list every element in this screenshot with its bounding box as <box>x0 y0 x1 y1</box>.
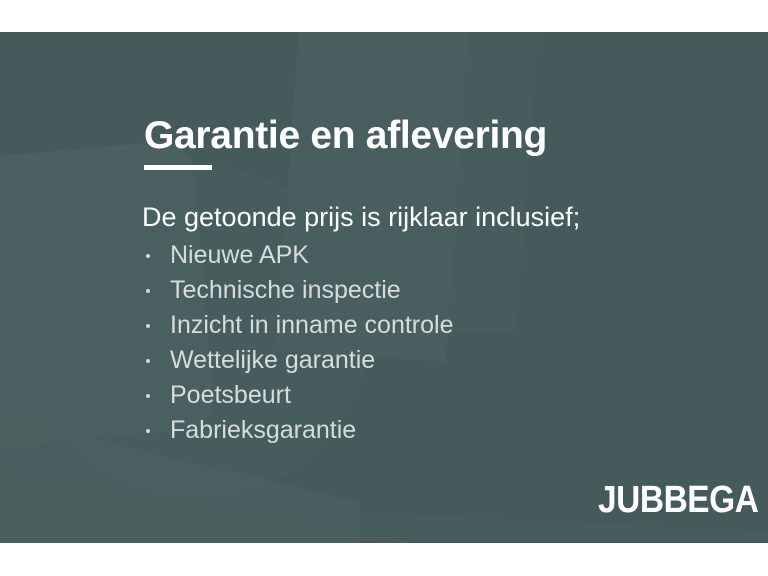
list-item: Technische inspectie <box>142 273 662 308</box>
bullet-dot-icon <box>146 359 150 363</box>
list-item: Wettelijke garantie <box>142 343 662 378</box>
bullet-dot-icon <box>146 394 150 398</box>
bullet-dot-icon <box>146 324 150 328</box>
bullet-dot-icon <box>146 289 150 293</box>
intro-text: De getoonde prijs is rijklaar inclusief; <box>142 200 580 234</box>
slide-body: Garantie en aflevering De getoonde prijs… <box>0 32 768 543</box>
bullet-dot-icon <box>146 429 150 433</box>
brand-logo: JUBBEGA SINDS 1924 <box>598 477 768 519</box>
slide-canvas: Garantie en aflevering De getoonde prijs… <box>0 0 768 576</box>
list-item-label: Wettelijke garantie <box>170 346 375 374</box>
list-item: Inzicht in inname controle <box>142 308 662 343</box>
list-item: Nieuwe APK <box>142 238 662 273</box>
list-item-label: Fabrieksgarantie <box>170 416 356 444</box>
slide-content: Garantie en aflevering De getoonde prijs… <box>0 32 768 543</box>
list-item: Fabrieksgarantie <box>142 413 662 448</box>
list-item-label: Poetsbeurt <box>170 381 291 409</box>
title-underline-rule <box>144 165 212 170</box>
list-item-label: Inzicht in inname controle <box>170 311 453 339</box>
brand-logo-wordmark: JUBBEGA <box>598 481 758 519</box>
list-item-label: Technische inspectie <box>170 276 401 304</box>
bullet-dot-icon <box>146 254 150 258</box>
page-title: Garantie en aflevering <box>144 113 547 159</box>
list-item: Poetsbeurt <box>142 378 662 413</box>
list-item-label: Nieuwe APK <box>170 241 309 269</box>
feature-list: Nieuwe APK Technische inspectie Inzicht … <box>142 238 662 448</box>
